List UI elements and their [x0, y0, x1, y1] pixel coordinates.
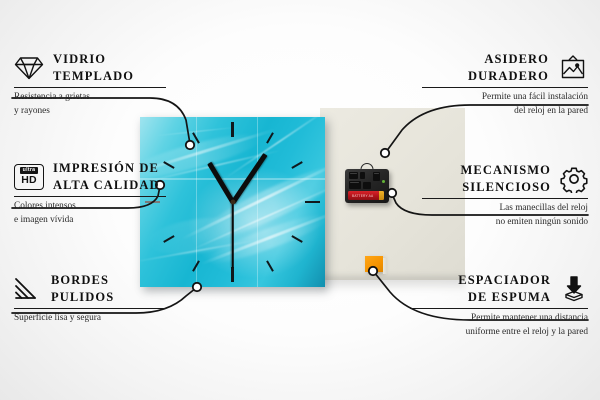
feature-asidero-duradero: ASIDERO DURADERO Permite una fácil insta… — [422, 51, 588, 118]
battery-label: BATTERY AA — [352, 194, 373, 198]
press-down-foam-icon — [560, 275, 588, 303]
title-underline — [14, 196, 166, 197]
polished-edges-icon — [14, 276, 42, 302]
feature-subtitle: Permite mantener una distancia uniforme … — [410, 312, 588, 339]
feature-title: MECANISMO SILENCIOSO — [461, 162, 551, 195]
feature-title: ASIDERO DURADERO — [468, 51, 549, 84]
mechanism-body: BATTERY AA — [345, 169, 389, 203]
clock-mechanism: BATTERY AA — [345, 163, 389, 203]
title-underline — [410, 308, 588, 309]
tick-mark — [305, 201, 320, 204]
feature-espaciador-de-espuma: ESPACIADOR DE ESPUMA Permite mantener un… — [410, 272, 588, 339]
mechanism-battery: BATTERY AA — [348, 191, 384, 200]
title-underline — [14, 87, 166, 88]
feature-subtitle: Superficie lisa y segura — [14, 312, 166, 325]
hanging-frame-icon — [558, 54, 588, 82]
title-underline — [14, 308, 166, 309]
mechanism-indicator-dot — [382, 180, 385, 183]
feature-subtitle: Las manecillas del reloj no emiten ningú… — [422, 202, 588, 229]
feature-subtitle: Resistencia a grietas y rayones — [14, 91, 166, 118]
feature-title: VIDRIO TEMPLADO — [53, 51, 134, 84]
ultra-hd-main-text: HD — [21, 175, 37, 186]
infographic-canvas: BATTERY AA — [0, 0, 600, 400]
foam-spacer — [365, 256, 383, 272]
feature-title: BORDES PULIDOS — [51, 272, 114, 305]
title-underline — [422, 87, 588, 88]
product-photo: BATTERY AA — [135, 108, 465, 290]
wall-clock — [140, 117, 325, 287]
battery-positive-tip — [379, 191, 384, 200]
tick-mark — [231, 122, 234, 137]
feature-impresion-alta-calidad: ultra HD IMPRESIÓN DE ALTA CALIDAD Color… — [14, 160, 166, 227]
feature-title: IMPRESIÓN DE ALTA CALIDAD — [53, 160, 160, 193]
feature-mecanismo-silencioso: MECANISMO SILENCIOSO Las manecillas del … — [422, 162, 588, 229]
diamond-icon — [14, 55, 44, 81]
tick-mark — [231, 267, 234, 282]
feature-title: ESPACIADOR DE ESPUMA — [458, 272, 551, 305]
feature-subtitle: Colores intensos e imagen vívida — [14, 200, 166, 227]
title-underline — [422, 198, 588, 199]
feature-bordes-pulidos: BORDES PULIDOS Superficie lisa y segura — [14, 272, 166, 326]
foam-spacer-side — [383, 258, 387, 274]
gear-icon — [560, 165, 588, 193]
clock-second-hand — [232, 202, 234, 268]
ultra-hd-badge-icon: ultra HD — [14, 164, 44, 190]
feature-vidrio-templado: VIDRIO TEMPLADO Resistencia a grietas y … — [14, 51, 166, 118]
clock-center-cap — [230, 200, 235, 205]
feature-subtitle: Permite una fácil instalación del reloj … — [422, 91, 588, 118]
ultra-hd-top-text: ultra — [20, 167, 39, 174]
